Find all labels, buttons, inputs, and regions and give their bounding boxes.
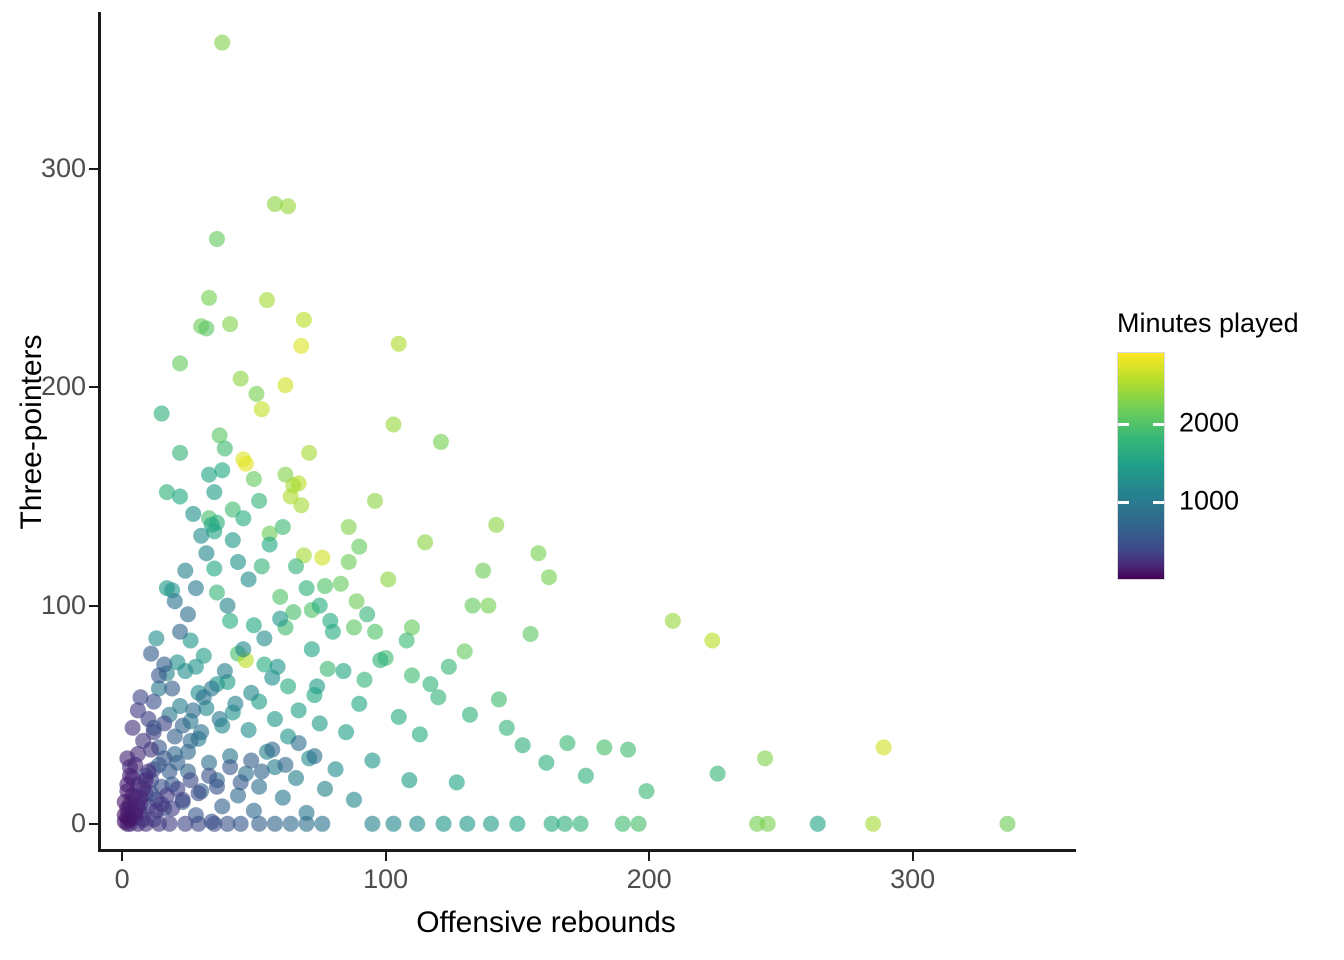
scatter-point (251, 779, 267, 795)
legend-colorbar (1117, 352, 1165, 580)
scatter-point (280, 678, 296, 694)
scatter-point (254, 558, 270, 574)
scatter-point (198, 320, 214, 336)
x-axis-tick (121, 852, 123, 861)
scatter-point (422, 676, 438, 692)
scatter-point (154, 406, 170, 422)
scatter-point (317, 781, 333, 797)
scatter-point (301, 445, 317, 461)
scatter-point (270, 659, 286, 675)
y-axis-tick-label: 300 (41, 155, 86, 182)
scatter-point (233, 774, 249, 790)
legend-title: Minutes played (1117, 310, 1299, 337)
scatter-point (214, 35, 230, 51)
colorbar-tick-label: 2000 (1179, 409, 1239, 436)
scatter-point (180, 606, 196, 622)
scatter-point (449, 774, 465, 790)
x-axis-title: Offensive rebounds (0, 908, 1092, 938)
scatter-point (306, 748, 322, 764)
scatter-point (191, 816, 207, 832)
scatter-point (275, 519, 291, 535)
scatter-point (304, 641, 320, 657)
scatter-point (164, 681, 180, 697)
scatter-point (328, 761, 344, 777)
scatter-point (491, 691, 507, 707)
scatter-point (264, 742, 280, 758)
scatter-point (320, 661, 336, 677)
scatter-point (380, 571, 396, 587)
scatter-point (530, 545, 546, 561)
scatter-point (251, 816, 267, 832)
scatter-point (810, 816, 826, 832)
scatter-point (267, 711, 283, 727)
scatter-point (214, 462, 230, 478)
scatter-point (309, 678, 325, 694)
scatter-point (367, 493, 383, 509)
scatter-point (322, 613, 338, 629)
scatter-point (262, 536, 278, 552)
scatter-point (275, 790, 291, 806)
scatter-point (241, 571, 257, 587)
scatter-point (175, 792, 191, 808)
scatter-point (312, 598, 328, 614)
scatter-point (338, 724, 354, 740)
scatter-point (146, 694, 162, 710)
scatter-point (335, 663, 351, 679)
plot-panel (101, 12, 1076, 850)
scatter-point (364, 753, 380, 769)
scatter-point (283, 816, 299, 832)
scatter-point (710, 766, 726, 782)
scatter-point (462, 707, 478, 723)
scatter-point (259, 292, 275, 308)
scatter-point (296, 312, 312, 328)
scatter-point (193, 528, 209, 544)
scatter-point (143, 742, 159, 758)
scatter-point (204, 681, 220, 697)
scatter-point (272, 589, 288, 605)
scatter-point (209, 584, 225, 600)
scatter-point (222, 759, 238, 775)
scatter-point (620, 742, 636, 758)
scatter-point (341, 519, 357, 535)
scatter-point (172, 624, 188, 640)
scatter-point (299, 580, 315, 596)
scatter-point (359, 606, 375, 622)
scatter-point (243, 685, 259, 701)
scatter-point (254, 763, 270, 779)
scatter-point (312, 715, 328, 731)
scatter-point (248, 386, 264, 402)
scatter-point (201, 290, 217, 306)
scatter-point (219, 598, 235, 614)
scatter-point (277, 377, 293, 393)
colorbar-tick-label: 1000 (1179, 488, 1239, 515)
colorbar-tick (1118, 501, 1129, 504)
scatter-point (212, 711, 228, 727)
scatter-point (288, 558, 304, 574)
scatter-point (291, 735, 307, 751)
scatter-point (172, 488, 188, 504)
scatter-point (185, 506, 201, 522)
scatter-point (314, 550, 330, 566)
x-axis-tick-label: 300 (890, 866, 935, 893)
y-axis-tick (89, 386, 98, 388)
y-axis-tick (89, 605, 98, 607)
scatter-point (399, 633, 415, 649)
colorbar-tick (1153, 423, 1164, 426)
scatter-point (317, 578, 333, 594)
scatter-point (391, 709, 407, 725)
scatter-point (293, 497, 309, 513)
scatter-point (288, 770, 304, 786)
y-axis-line (98, 12, 101, 852)
scatter-point (417, 534, 433, 550)
scatter-point (293, 338, 309, 354)
x-axis-tick-label: 100 (363, 866, 408, 893)
scatter-point (233, 371, 249, 387)
scatter-point (225, 532, 241, 548)
scatter-point (251, 493, 267, 509)
scatter-point (172, 445, 188, 461)
scatter-point (217, 440, 233, 456)
scatter-point (457, 643, 473, 659)
scatter-point (193, 724, 209, 740)
scatter-point (412, 726, 428, 742)
scatter-point (222, 613, 238, 629)
scatter-point (475, 563, 491, 579)
scatter-point (191, 785, 207, 801)
scatter-point (559, 735, 575, 751)
y-axis-title: Three-pointers (17, 212, 47, 652)
x-axis-tick (912, 852, 914, 861)
scatter-point (188, 580, 204, 596)
scatter-point (272, 611, 288, 627)
scatter-point (865, 816, 881, 832)
scatter-point (175, 718, 191, 734)
scatter-point (615, 816, 631, 832)
scatter-point (999, 816, 1015, 832)
scatter-point (433, 434, 449, 450)
scatter-point (465, 598, 481, 614)
scatter-point (351, 539, 367, 555)
scatter-point (665, 613, 681, 629)
scatter-point (148, 630, 164, 646)
scatter-point (341, 554, 357, 570)
scatter-point (351, 696, 367, 712)
scatter-point (538, 755, 554, 771)
x-axis-tick-label: 200 (627, 866, 672, 893)
scatter-point (364, 816, 380, 832)
scatter-point (631, 816, 647, 832)
scatter-point (409, 816, 425, 832)
scatter-point (386, 816, 402, 832)
scatter-point (436, 816, 452, 832)
scatter-point (177, 563, 193, 579)
colorbar-tick (1153, 501, 1164, 504)
scatter-point (185, 702, 201, 718)
scatter-point (391, 336, 407, 352)
scatter-point (372, 652, 388, 668)
scatter-point (246, 471, 262, 487)
scatter-point (488, 517, 504, 533)
scatter-point (198, 545, 214, 561)
scatter-point (140, 763, 156, 779)
scatter-point (177, 663, 193, 679)
scatter-point (277, 757, 293, 773)
scatter-point (578, 768, 594, 784)
scatter-point (209, 779, 225, 795)
scatter-point (254, 401, 270, 417)
y-axis-tick (89, 168, 98, 170)
scatter-point (206, 484, 222, 500)
y-axis-tick-label: 100 (41, 592, 86, 619)
scatter-point (172, 355, 188, 371)
scatter-point (162, 816, 178, 832)
scatter-point (499, 720, 515, 736)
scatter-point (143, 646, 159, 662)
y-axis-tick-label: 0 (71, 810, 86, 837)
scatter-point (246, 617, 262, 633)
scatter-point (480, 598, 496, 614)
scatter-point (280, 198, 296, 214)
scatter-point (209, 231, 225, 247)
scatter-point (523, 626, 539, 642)
scatter-point (214, 798, 230, 814)
scatter-point (230, 554, 246, 570)
scatter-point (509, 816, 525, 832)
scatter-point (217, 663, 233, 679)
chart-root: 01002003000100200300 Offensive rebounds … (0, 0, 1344, 960)
scatter-point (386, 416, 402, 432)
scatter-point (483, 816, 499, 832)
scatter-point (267, 816, 283, 832)
colorbar-tick (1118, 423, 1129, 426)
scatter-point (401, 772, 417, 788)
scatter-point (156, 657, 172, 673)
scatter-point (757, 750, 773, 766)
scatter-point (333, 576, 349, 592)
scatter-point (167, 593, 183, 609)
scatter-point (291, 702, 307, 718)
x-axis-line (98, 849, 1076, 852)
scatter-point (235, 510, 251, 526)
scatter-point (125, 720, 141, 736)
scatter-point (256, 630, 272, 646)
scatter-point (314, 816, 330, 832)
scatter-point (638, 783, 654, 799)
scatter-point (357, 672, 373, 688)
scatter-point (206, 560, 222, 576)
scatter-point (704, 633, 720, 649)
scatter-point (346, 792, 362, 808)
scatter-point (233, 816, 249, 832)
scatter-point (441, 659, 457, 675)
scatter-point (404, 667, 420, 683)
scatter-point (241, 722, 257, 738)
x-axis-tick-label: 0 (115, 866, 130, 893)
scatter-point (876, 739, 892, 755)
scatter-point (156, 715, 172, 731)
scatter-point (227, 696, 243, 712)
scatter-point (596, 739, 612, 755)
scatter-point (541, 569, 557, 585)
scatter-point (235, 641, 251, 657)
x-axis-tick (648, 852, 650, 861)
scatter-point (367, 624, 383, 640)
scatter-point (299, 816, 315, 832)
scatter-point (238, 456, 254, 472)
scatter-point (222, 316, 238, 332)
y-axis-tick (89, 823, 98, 825)
scatter-point (459, 816, 475, 832)
x-axis-tick (385, 852, 387, 861)
scatter-point (760, 816, 776, 832)
scatter-point (573, 816, 589, 832)
scatter-point (346, 619, 362, 635)
scatter-point (349, 593, 365, 609)
scatter-points-layer (101, 12, 1076, 850)
scatter-point (515, 737, 531, 753)
scatter-point (557, 816, 573, 832)
